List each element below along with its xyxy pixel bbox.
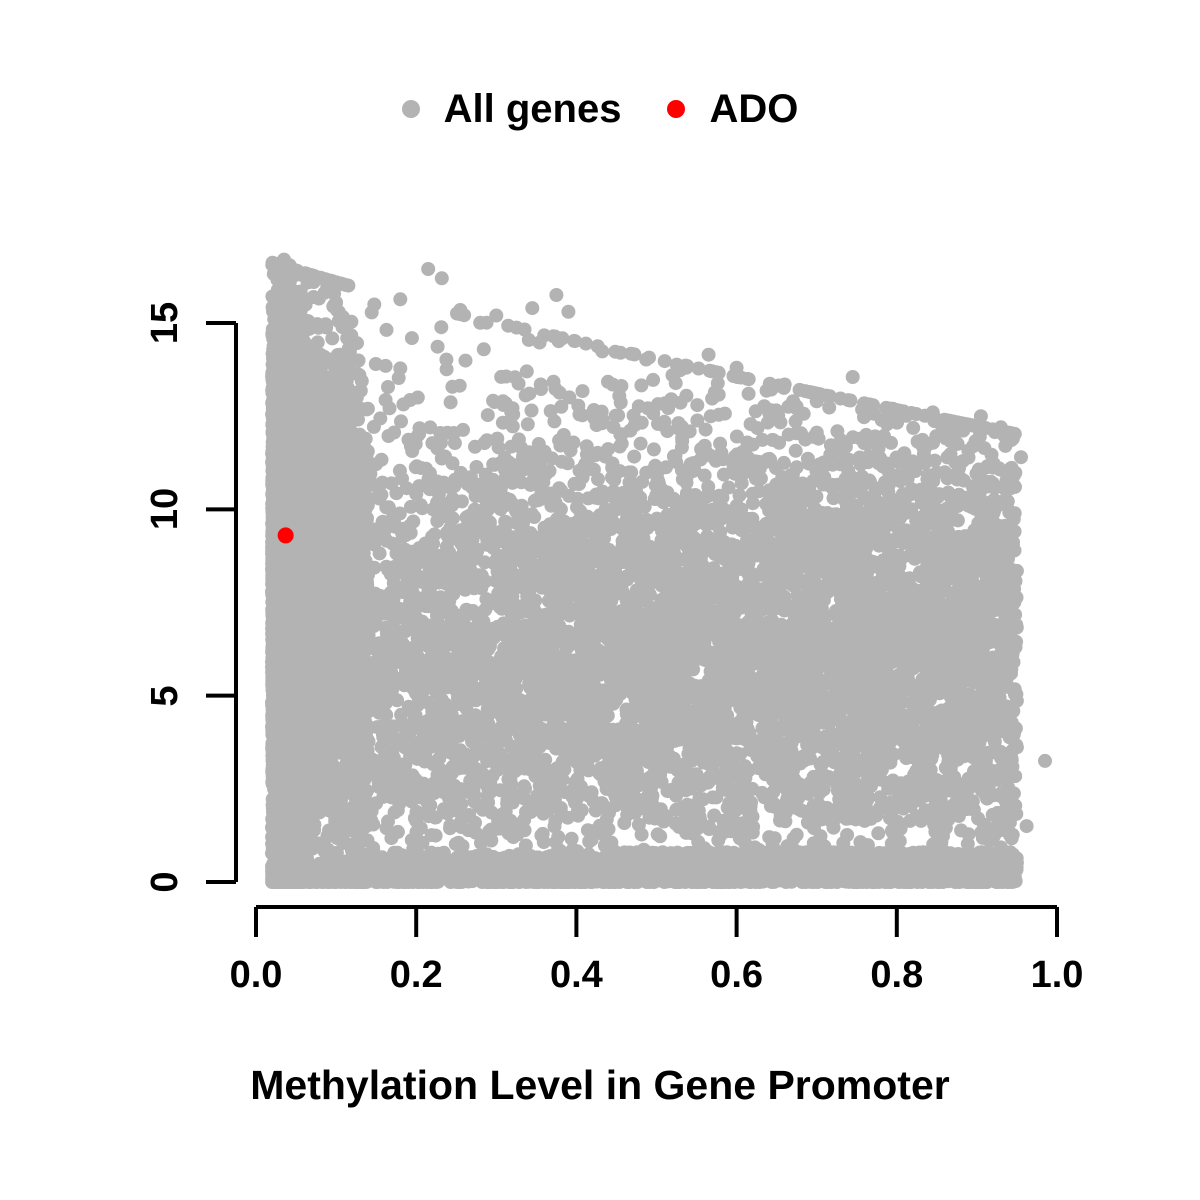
y-tick-label: 10 [141,485,189,533]
scatter-plot-figure: All genes ADO 0.00.20.40.60.81.0 051015 … [0,0,1200,1200]
x-tick-label: 0.6 [710,954,763,997]
x-tick-label: 0.2 [390,954,443,997]
x-tick-label: 0.0 [230,954,283,997]
x-tick-label: 0.4 [550,954,603,997]
all-genes-points [265,253,1052,889]
data-points-layer [265,253,1052,889]
plot-area [0,0,1200,1200]
x-axis-title: Methylation Level in Gene Promoter [0,1062,1200,1109]
x-tick-label: 0.8 [870,954,923,997]
y-tick-label: 15 [141,299,189,347]
y-tick-label: 0 [141,858,189,906]
x-tick-label: 1.0 [1031,954,1084,997]
y-tick-label: 5 [141,672,189,720]
ado-point-layer [278,527,294,543]
ado-data-point [278,527,294,543]
